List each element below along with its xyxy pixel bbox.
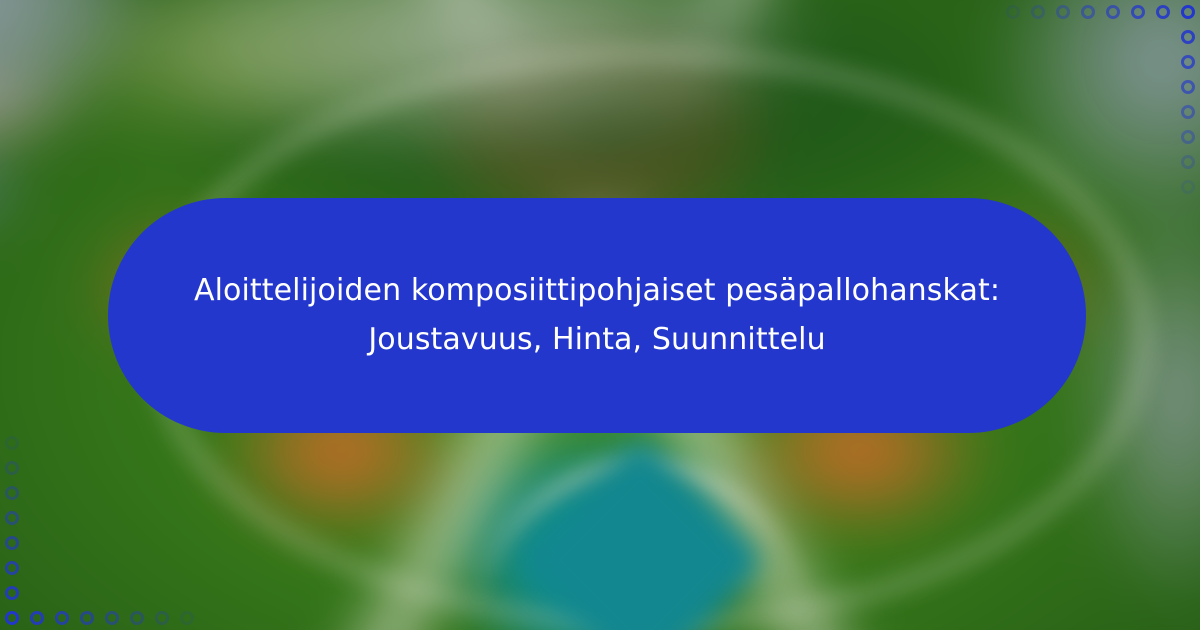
decorative-circle (5, 461, 19, 475)
decorative-circle (1181, 130, 1195, 144)
decorative-circle (155, 611, 169, 625)
decorative-circle (1181, 80, 1195, 94)
decorative-circle (1106, 5, 1120, 19)
decorative-circle (1181, 30, 1195, 44)
decorative-circle (130, 611, 144, 625)
decorative-circle (55, 611, 69, 625)
decorative-circle (1181, 155, 1195, 169)
decorative-circle (1006, 5, 1020, 19)
decorative-circle (5, 561, 19, 575)
decorative-circle (5, 536, 19, 550)
decorative-circle (1081, 5, 1095, 19)
decorative-circle (1056, 5, 1070, 19)
decorative-circle (1181, 5, 1195, 19)
decorative-circle (180, 611, 194, 625)
decorative-circle (1031, 5, 1045, 19)
decorative-circle (105, 611, 119, 625)
decorative-circle (5, 611, 19, 625)
decorative-circle (1181, 180, 1195, 194)
decorative-circle (1131, 5, 1145, 19)
decorative-circle (80, 611, 94, 625)
decorative-circle (1181, 55, 1195, 69)
social-card: Aloittelijoiden komposiittipohjaiset pes… (0, 0, 1200, 630)
decorative-circle (5, 436, 19, 450)
page-title: Aloittelijoiden komposiittipohjaiset pes… (178, 267, 1016, 364)
decorative-circle (30, 611, 44, 625)
decorative-circle (5, 511, 19, 525)
decorative-circle (1181, 105, 1195, 119)
decorative-circle (5, 486, 19, 500)
title-pill: Aloittelijoiden komposiittipohjaiset pes… (108, 198, 1086, 433)
decorative-circle (1156, 5, 1170, 19)
decorative-circle (5, 586, 19, 600)
